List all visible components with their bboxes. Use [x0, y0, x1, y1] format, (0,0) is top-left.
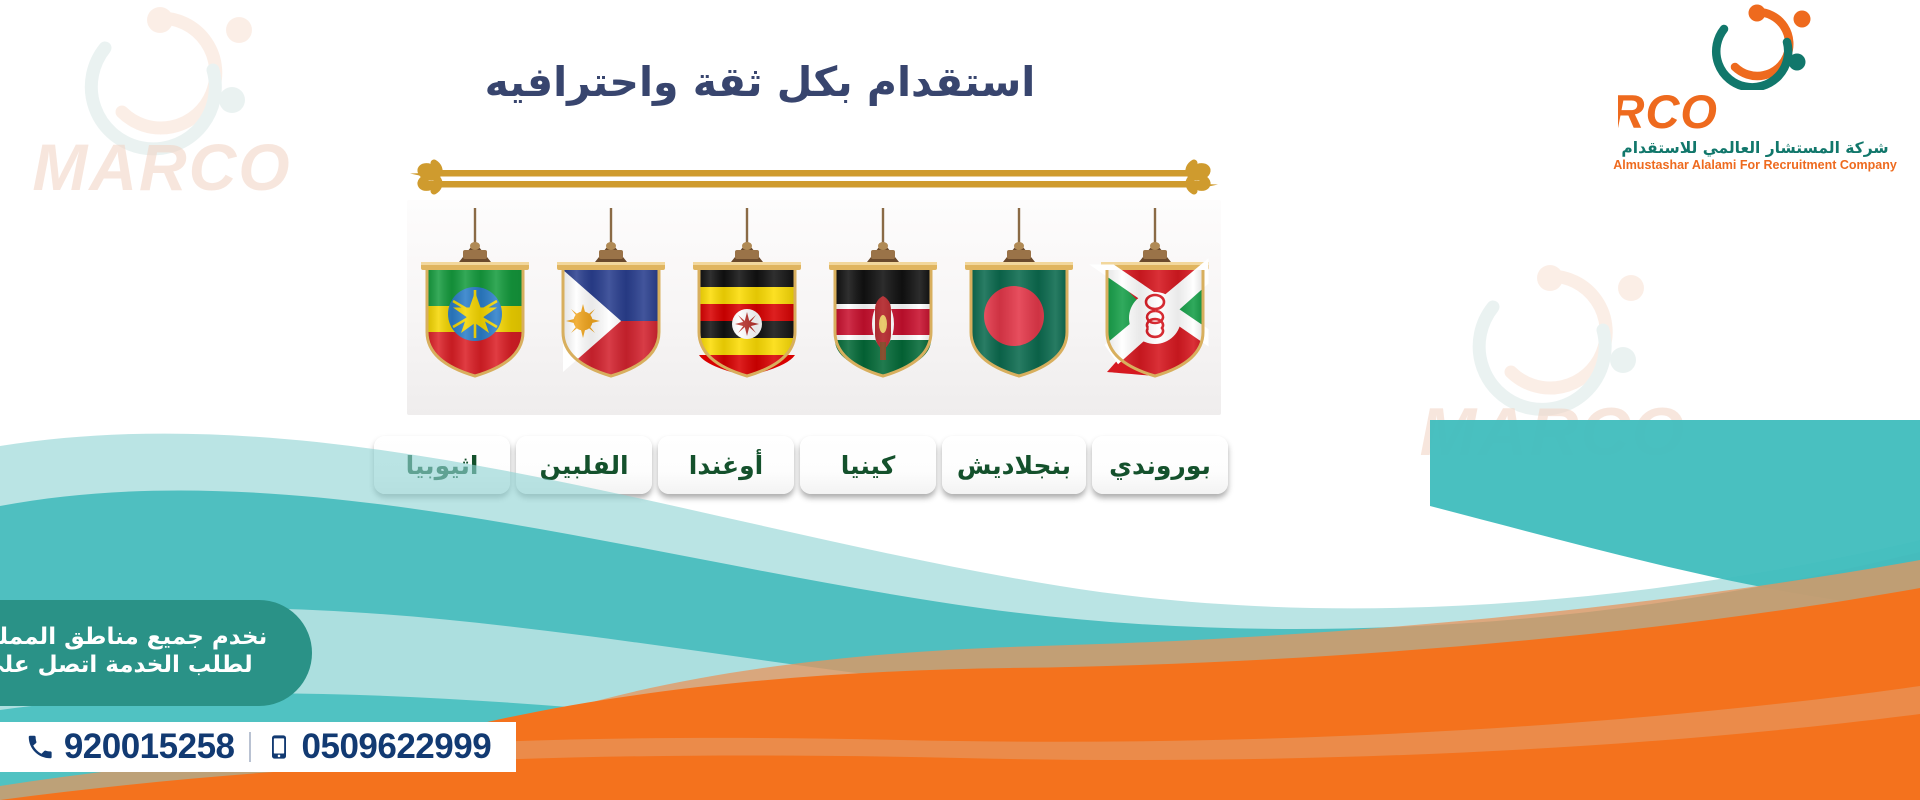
banner-stage: MARCO MARCO استقدام بكل ثقة واحترافيه [0, 0, 1920, 800]
mobile-phone-icon [265, 732, 293, 762]
uganda-pennant-icon [679, 206, 815, 406]
burundi-pennant-icon [1087, 206, 1223, 406]
phone-handset-icon [25, 732, 55, 762]
contact-landline[interactable]: 920015258 [25, 727, 235, 767]
page-title: استقدام بكل ثقة واحترافيه [0, 58, 1520, 106]
marco-wordmark: MA RCO [1618, 88, 1892, 138]
svg-text:MARCO: MARCO [32, 130, 291, 204]
flag-pennant-kenya [815, 206, 951, 406]
flags-display-panel [400, 152, 1228, 452]
marco-people-circle-icon [1696, 2, 1814, 90]
gold-decorative-rod [400, 152, 1228, 202]
marco-logo: MA RCO شركة المستشار العالمي للاستقدام A… [1610, 2, 1900, 184]
ethiopia-pennant-icon [407, 206, 543, 406]
landline-number: 920015258 [64, 727, 235, 767]
bangladesh-pennant-icon [951, 206, 1087, 406]
marco-watermark-left: MARCO [10, 0, 320, 220]
kenya-pennant-icon [815, 206, 951, 406]
flag-pennant-philippines [543, 206, 679, 406]
svg-text:RCO: RCO [1618, 88, 1718, 138]
flag-pennant-bangladesh [951, 206, 1087, 406]
philippines-pennant-icon [543, 206, 679, 406]
flags-backdrop [407, 200, 1221, 415]
flag-pennant-ethiopia [407, 206, 543, 406]
mobile-number: 0509622999 [302, 727, 492, 767]
logo-arabic-tagline: شركة المستشار العالمي للاستقدام [1621, 139, 1888, 157]
contact-separator [249, 732, 251, 762]
flag-pennant-uganda [679, 206, 815, 406]
contact-mobile[interactable]: 0509622999 [265, 727, 492, 767]
service-line-1: نخدم جميع مناطق المملكة [0, 623, 267, 651]
flag-pennant-burundi [1087, 206, 1223, 406]
service-area-pill: نخدم جميع مناطق المملكة لطلب الخدمة اتصل… [0, 600, 312, 706]
flag-pennant-row [407, 200, 1221, 415]
logo-english-tagline: Almustashar Alalami For Recruitment Comp… [1613, 158, 1897, 172]
contact-phone-bar: 920015258 0509622999 [0, 722, 516, 772]
marco-watermark-left-svg: MARCO [10, 0, 320, 220]
service-line-2: لطلب الخدمة اتصل على: [0, 651, 253, 679]
